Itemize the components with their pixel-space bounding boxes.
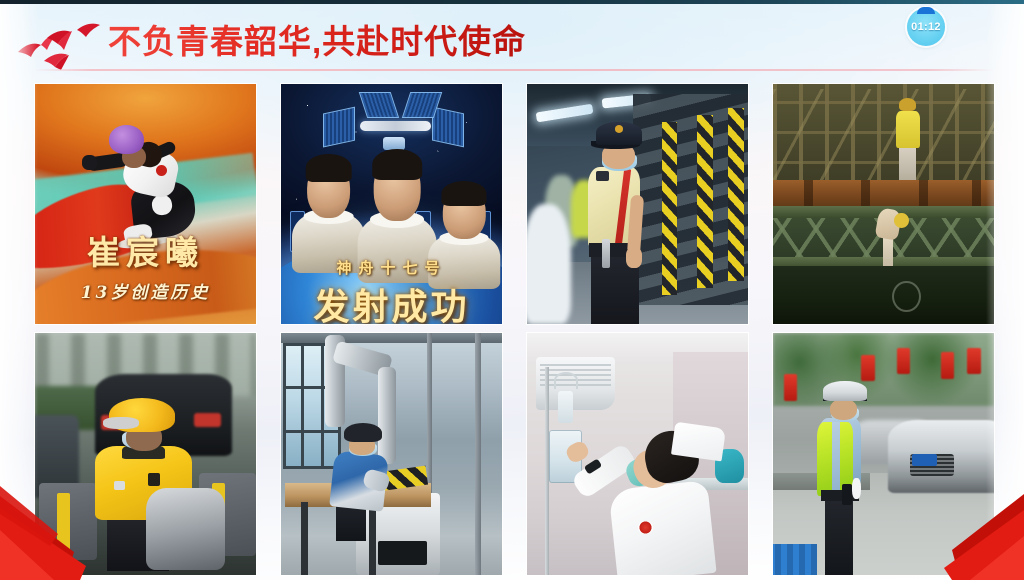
hazard-stripe	[728, 108, 743, 281]
top-edge-strip	[0, 0, 1024, 4]
iv-stand-hook	[554, 372, 578, 389]
presentation-slide: 不负青春韶华,共赴时代使命 01:12	[0, 0, 1024, 580]
police-cap	[823, 381, 867, 400]
gallery-tile-nurse[interactable]	[527, 333, 748, 575]
timer-value: 01:12	[911, 21, 941, 33]
header-divider	[34, 69, 994, 71]
astronaut-hair	[442, 181, 487, 206]
flying-doves-logo-icon	[14, 18, 106, 70]
machine-panel	[378, 541, 427, 565]
astronaut-hair	[305, 154, 352, 181]
countdown-timer-badge[interactable]: 01:12	[907, 8, 945, 46]
window-mullion	[283, 430, 340, 433]
bending-worker	[875, 209, 910, 271]
officer-hands	[626, 247, 642, 267]
tile-caption-main: 发射成功	[281, 278, 502, 324]
factory-worker-figure	[334, 423, 391, 539]
tile-caption-sub: 神舟十七号	[281, 257, 502, 278]
scooter	[146, 488, 226, 570]
hazard-stripe	[697, 115, 712, 288]
image-gallery-grid: 崔宸曦 13岁创造历史	[35, 84, 995, 576]
worker-helmet	[894, 213, 909, 228]
astronaut-hair	[372, 149, 422, 180]
worker-legs	[899, 146, 917, 182]
police-head	[830, 399, 858, 420]
tile-caption-sub: 13岁创造历史	[35, 278, 256, 303]
rider-wristwatch	[114, 481, 126, 489]
solar-panel	[432, 106, 464, 147]
shenzhou-scene: 神舟十七号 发射成功	[281, 84, 502, 324]
window-mullion	[321, 343, 324, 469]
delivery-rider-scene	[35, 333, 256, 575]
white-glove	[852, 478, 861, 499]
worker-hair	[344, 423, 382, 443]
solar-panel	[359, 92, 400, 118]
left-edge-fade	[0, 4, 38, 580]
skateboarder-scene: 崔宸曦 13岁创造历史	[35, 84, 256, 324]
deck-beam	[861, 180, 870, 209]
street-trees	[773, 333, 994, 406]
iv-drip-chamber	[558, 391, 573, 422]
rider-helmet-visor	[103, 417, 139, 429]
skater-helmet	[109, 125, 144, 154]
page-title: 不负青春韶华,共赴时代使命	[108, 21, 526, 63]
red-lantern	[861, 355, 874, 382]
gallery-tile-traffic-police[interactable]	[773, 333, 994, 575]
worker-helmet	[899, 98, 916, 111]
belt-pouch	[842, 484, 851, 505]
construction-scene	[773, 84, 994, 324]
gallery-tile-construction[interactable]	[773, 84, 994, 324]
traffic-police-figure	[817, 381, 874, 575]
nurse-figure	[620, 425, 735, 575]
gallery-tile-skateboarder[interactable]: 崔宸曦 13岁创造历史	[35, 84, 256, 324]
skater-glove	[82, 155, 97, 170]
timer-progress-arc	[917, 7, 935, 14]
window-mullion	[301, 343, 304, 469]
security-officer-figure	[584, 122, 664, 324]
docked-spacecraft	[383, 137, 405, 149]
station-core-module	[360, 121, 431, 131]
red-lantern	[897, 348, 910, 375]
deck-beam	[804, 180, 813, 209]
nurse-white-coat	[608, 480, 716, 575]
car-license-plate	[912, 454, 936, 466]
slide-header: 不负青春韶华,共赴时代使命	[0, 4, 1024, 72]
officer-epaulette	[596, 171, 610, 181]
gallery-tile-shenzhou[interactable]: 神舟十七号 发射成功	[281, 84, 502, 324]
worker-trousers	[336, 506, 366, 541]
traffic-police-scene	[773, 333, 994, 575]
dark-girder	[773, 266, 994, 324]
plank-deck	[773, 180, 994, 209]
red-lantern	[967, 348, 980, 375]
red-lantern	[941, 352, 954, 379]
blue-crates	[773, 544, 817, 575]
standing-worker	[895, 98, 922, 180]
background-passenger	[527, 204, 571, 324]
astronaut-portrait	[294, 161, 363, 267]
solar-panel	[323, 106, 355, 147]
security-officer-scene	[527, 84, 748, 324]
nurse-cap	[671, 422, 726, 462]
police-trousers	[825, 498, 853, 575]
ceiling-beam	[281, 333, 502, 343]
red-lantern	[784, 374, 797, 401]
vest-opening	[832, 422, 839, 496]
gallery-tile-delivery-rider[interactable]	[35, 333, 256, 575]
hazard-stripe	[662, 122, 677, 295]
rider-chest-logo	[148, 473, 161, 487]
nurse-scene	[527, 333, 748, 575]
gallery-tile-security-officer[interactable]	[527, 84, 748, 324]
deck-beam	[919, 180, 928, 209]
scaffolding-diagonals	[773, 89, 994, 185]
deck-beam	[972, 180, 981, 209]
tile-caption-main: 崔宸曦	[35, 226, 256, 274]
factory-scene	[281, 333, 502, 575]
gallery-tile-factory-worker[interactable]	[281, 333, 502, 575]
support-pole	[475, 333, 481, 575]
worker-shirt	[896, 111, 920, 149]
box-strap	[57, 493, 70, 556]
officer-keychain	[602, 239, 610, 267]
girder-ring	[892, 281, 921, 312]
bench-leg	[301, 502, 308, 575]
